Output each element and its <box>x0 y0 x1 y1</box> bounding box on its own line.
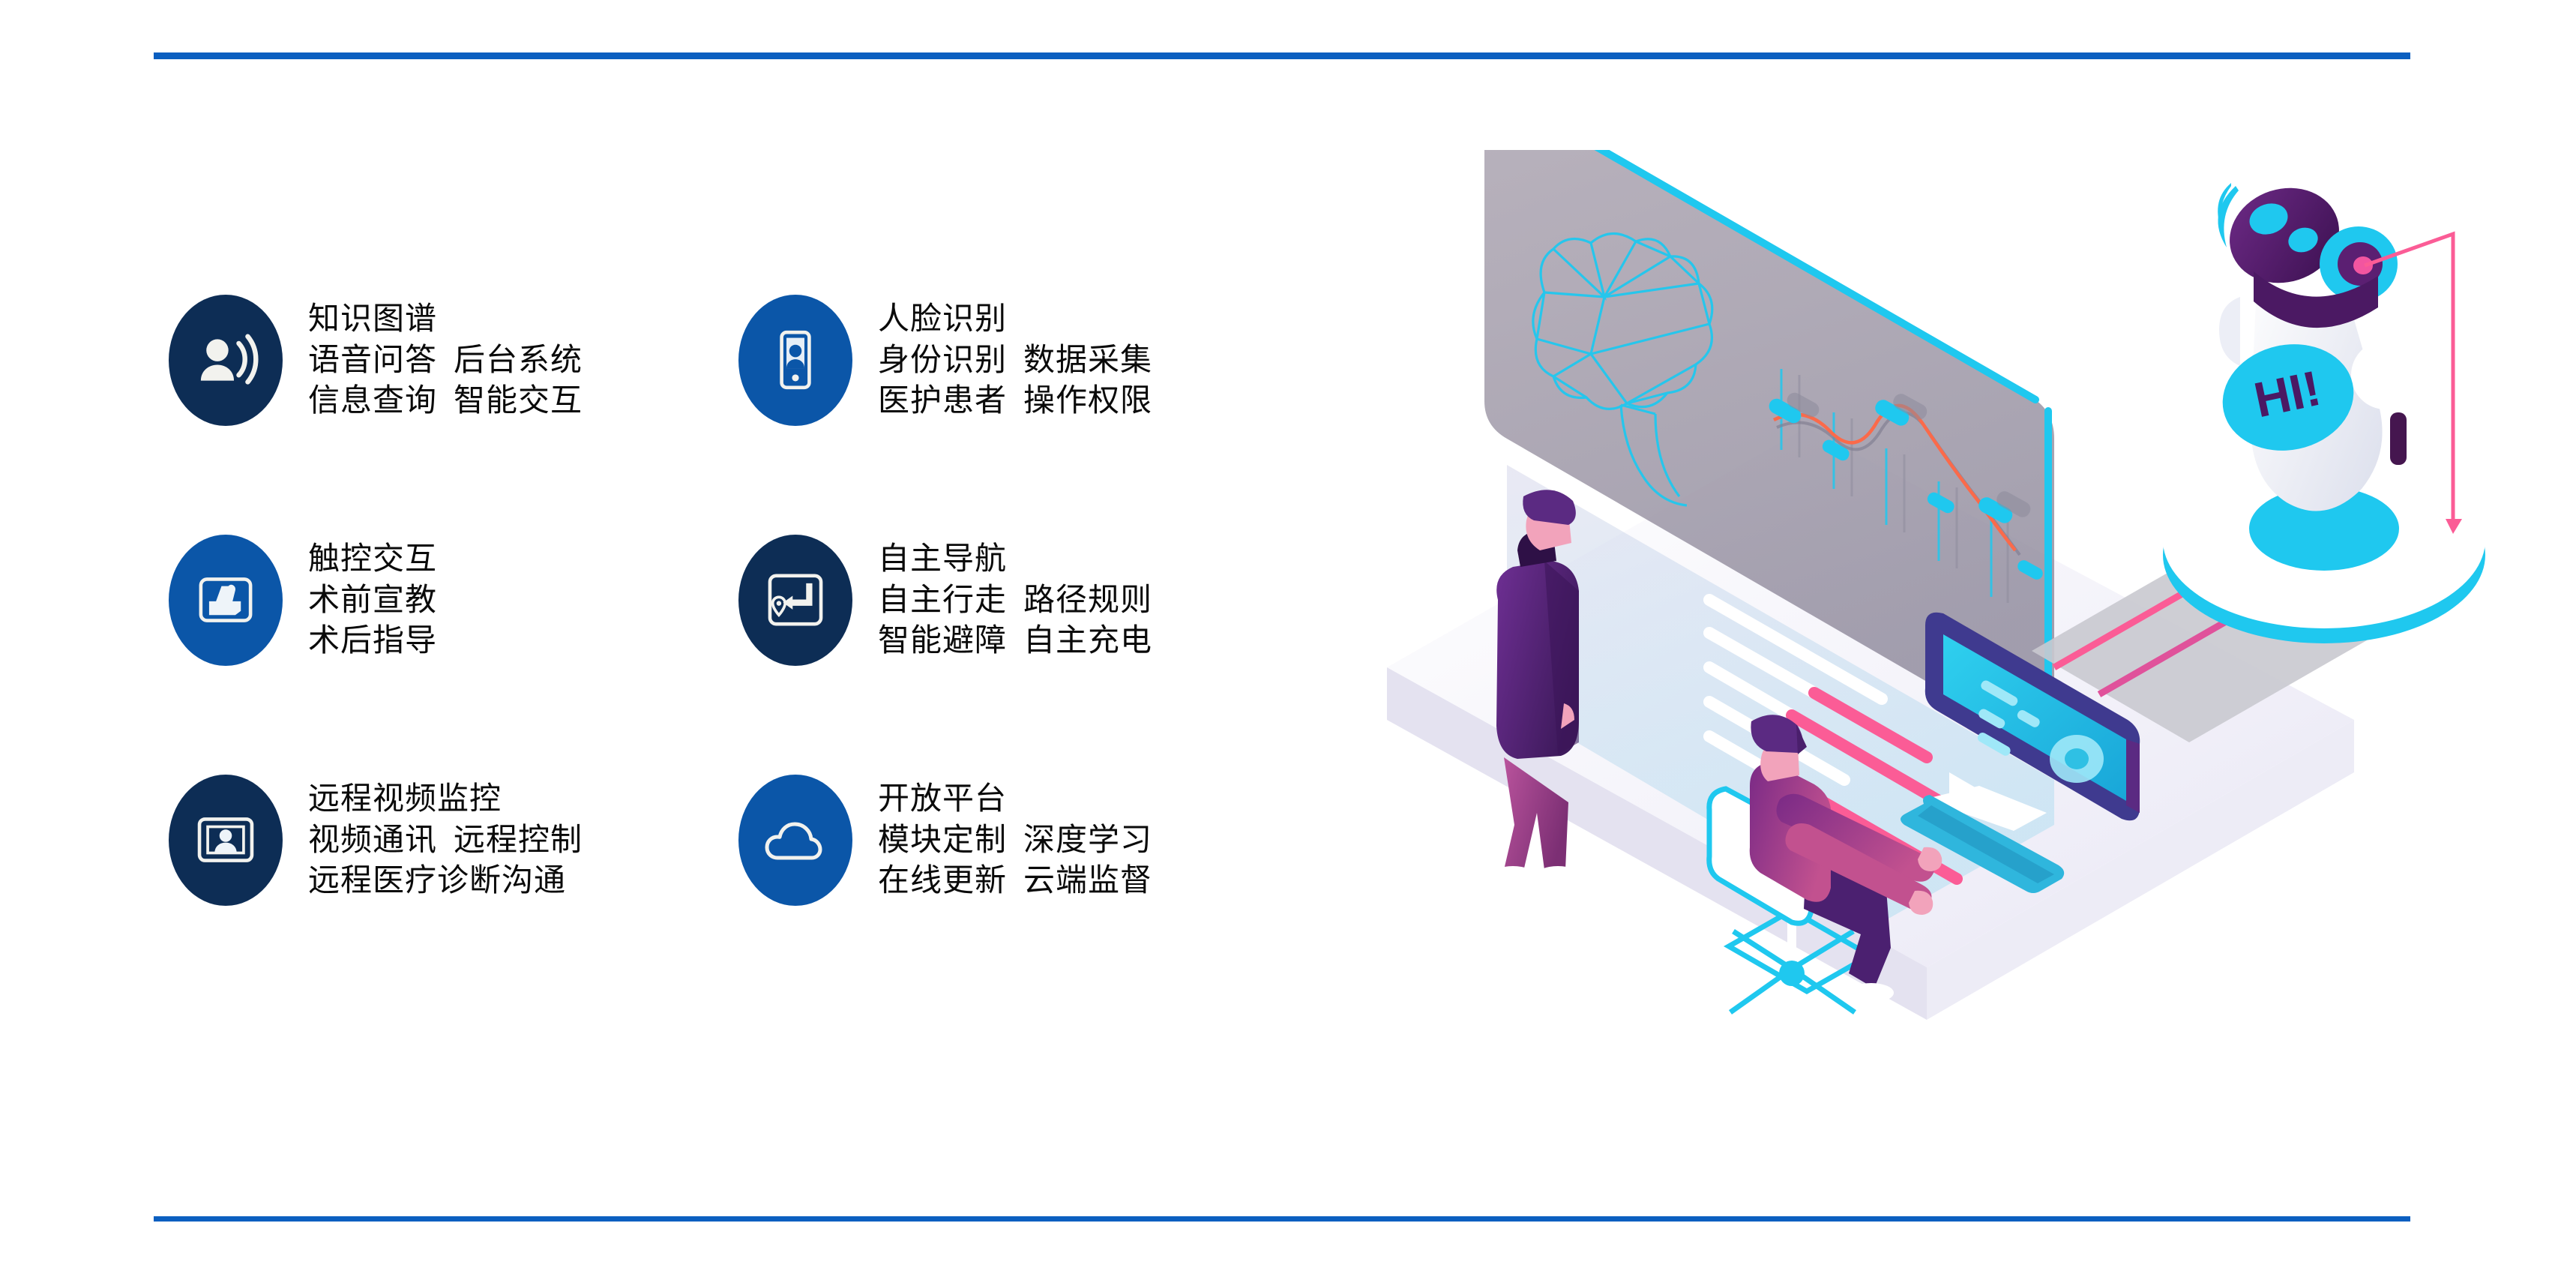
touch-hand-screen-icon <box>169 535 283 666</box>
feature-line-2: 模块定制深度学习 <box>878 820 1152 861</box>
feature-line-3: 术后指导 <box>308 620 437 661</box>
feature-text: 开放平台 模块定制深度学习 在线更新云端监督 <box>878 778 1152 901</box>
feature-line-2: 语音问答后台系统 <box>308 340 583 381</box>
feature-line-3: 远程医疗诊断沟通 <box>308 860 583 901</box>
top-divider <box>154 52 2410 59</box>
feature-grid: 知识图谱 语音问答后台系统 信息查询智能交互 人脸识别 身份识别数据采集 医护患… <box>169 240 1308 960</box>
feature-line-3: 医护患者操作权限 <box>878 380 1152 421</box>
feature-item-open-platform[interactable]: 开放平台 模块定制深度学习 在线更新云端监督 <box>738 720 1308 960</box>
person-speaking-icon <box>169 295 283 426</box>
face-recognition-phone-icon <box>738 295 852 426</box>
feature-text: 人脸识别 身份识别数据采集 医护患者操作权限 <box>878 298 1152 421</box>
feature-item-remote-video-monitoring[interactable]: 远程视频监控 视频通讯远程控制 远程医疗诊断沟通 <box>169 720 738 960</box>
isometric-ai-hospital-scene: HI! <box>1357 150 2527 1050</box>
feature-item-autonomous-navigation[interactable]: 自主导航 自主行走路径规则 智能避障自主充电 <box>738 480 1308 720</box>
navigation-route-pin-icon <box>738 535 852 666</box>
video-portrait-frame-icon <box>169 775 283 906</box>
feature-line-3: 在线更新云端监督 <box>878 860 1152 901</box>
feature-text: 自主导航 自主行走路径规则 智能避障自主充电 <box>878 538 1152 661</box>
feature-title: 自主导航 <box>878 538 1152 580</box>
feature-title: 开放平台 <box>878 778 1152 820</box>
feature-line-2: 视频通讯远程控制 <box>308 820 583 861</box>
feature-item-touch-interaction[interactable]: 触控交互 术前宣教 术后指导 <box>169 480 738 720</box>
feature-line-3: 信息查询智能交互 <box>308 380 583 421</box>
feature-title: 触控交互 <box>308 538 437 580</box>
feature-line-2: 身份识别数据采集 <box>878 340 1152 381</box>
feature-text: 远程视频监控 视频通讯远程控制 远程医疗诊断沟通 <box>308 778 583 901</box>
cloud-icon <box>738 775 852 906</box>
service-robot: HI! <box>2163 154 2485 643</box>
feature-title: 人脸识别 <box>878 298 1152 340</box>
feature-line-2: 自主行走路径规则 <box>878 580 1152 621</box>
feature-line-3: 智能避障自主充电 <box>878 620 1152 661</box>
feature-title: 知识图谱 <box>308 298 583 340</box>
feature-text: 触控交互 术前宣教 术后指导 <box>308 538 437 661</box>
feature-item-knowledge-graph[interactable]: 知识图谱 语音问答后台系统 信息查询智能交互 <box>169 240 738 480</box>
feature-title: 远程视频监控 <box>308 778 583 820</box>
feature-line-2: 术前宣教 <box>308 580 437 621</box>
bottom-divider <box>154 1216 2410 1222</box>
feature-text: 知识图谱 语音问答后台系统 信息查询智能交互 <box>308 298 583 421</box>
feature-item-face-recognition[interactable]: 人脸识别 身份识别数据采集 医护患者操作权限 <box>738 240 1308 480</box>
